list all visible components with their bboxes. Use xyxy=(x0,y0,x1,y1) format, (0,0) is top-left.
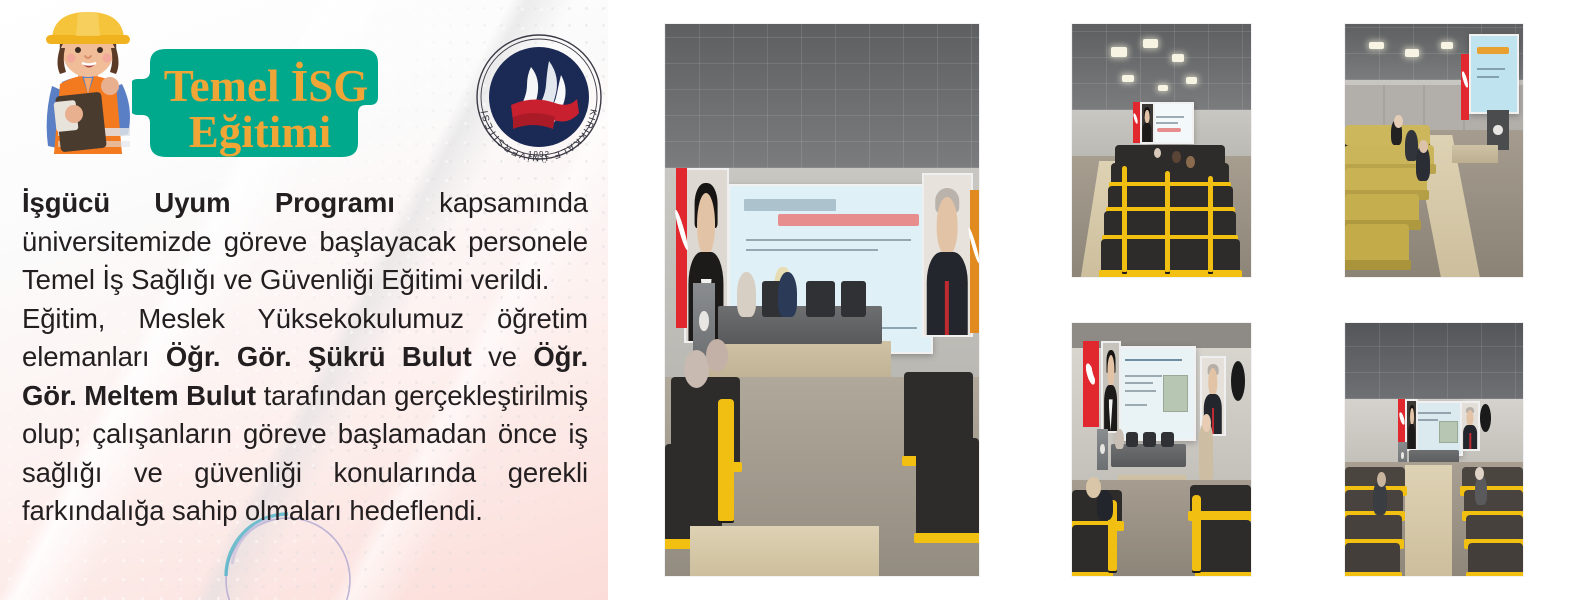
photo-grid-row-bottom xyxy=(1032,307,1563,592)
photo-hall-rear-view[interactable] xyxy=(1345,323,1524,576)
banner-line1: Temel İSG xyxy=(164,61,369,111)
photo-grid-row-top xyxy=(1032,8,1563,293)
seal-year: 1992 xyxy=(528,150,550,159)
title-banner: Temel İSG Eğitimi xyxy=(132,47,394,165)
paragraph-1: İşgücü Uyum Programı kapsamında üniversi… xyxy=(22,184,588,300)
photo-presenter-standing[interactable] xyxy=(1072,323,1251,576)
left-info-panel: Temel İSG Eğitimi KIRIKKALE ÜNİVERSİTESİ xyxy=(0,0,613,600)
paragraph-2-part2: ve xyxy=(472,341,534,372)
paragraph-2-bold1: Öğr. Gör. Şükrü Bulut xyxy=(166,341,472,372)
photo-grid: HHA MYO 2006 xyxy=(613,0,1585,600)
poster-root: Temel İSG Eğitimi KIRIKKALE ÜNİVERSİTESİ xyxy=(0,0,1585,600)
kirikkale-universitesi-seal-icon: KIRIKKALE ÜNİVERSİTESİ 1992 xyxy=(471,25,607,171)
photo-grid-column-left xyxy=(625,8,1019,592)
photo-audience-seated[interactable] xyxy=(1345,24,1524,277)
body-text: İşgücü Uyum Programı kapsamında üniversi… xyxy=(22,184,588,531)
photo-grid-column-right xyxy=(1032,8,1563,592)
photo-conference-hall-panel[interactable] xyxy=(665,24,979,576)
panel-header: Temel İSG Eğitimi KIRIKKALE ÜNİVERSİTESİ xyxy=(0,0,608,178)
paragraph-1-bold-lead: İşgücü Uyum Programı xyxy=(22,187,395,218)
photo-auditorium-seats-wide[interactable] xyxy=(1072,24,1251,277)
banner-line2: Eğitimi xyxy=(189,107,332,157)
paragraph-2: Eğitim, Meslek Yüksekokulumuz öğretim el… xyxy=(22,300,588,531)
